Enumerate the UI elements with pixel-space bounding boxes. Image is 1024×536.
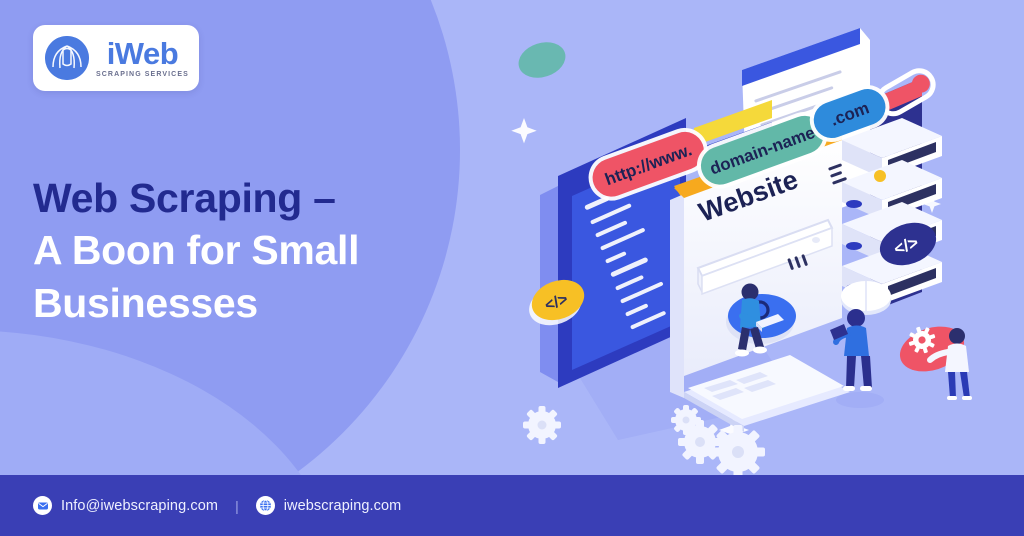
logo-subtitle: SCRAPING SERVICES — [96, 71, 189, 78]
server-rack — [842, 118, 942, 304]
page-title: Web Scraping – A Boon for Small Business… — [33, 172, 503, 329]
footer-separator: | — [235, 498, 239, 514]
headline-line-2: A Boon for Small — [33, 224, 503, 276]
footer-email[interactable]: Info@iwebscraping.com — [33, 496, 218, 515]
illustration: Website — [498, 0, 1024, 480]
logo[interactable]: iWeb SCRAPING SERVICES — [33, 25, 199, 91]
sparkle-icon — [511, 118, 536, 143]
spider-web-icon — [45, 36, 89, 80]
banner-root: Website — [0, 0, 1024, 536]
footer: Info@iwebscraping.com | iwebscraping.com — [0, 475, 1024, 536]
footer-email-text: Info@iwebscraping.com — [61, 498, 218, 514]
search-button — [726, 294, 796, 344]
logo-title: iWeb — [107, 38, 179, 69]
computer-mouse — [841, 281, 891, 315]
decorative-dot — [874, 170, 886, 182]
headline-line-1: Web Scraping – — [33, 172, 503, 224]
globe-icon — [256, 496, 275, 515]
decorative-blob — [514, 36, 570, 83]
headline-line-3: Businesses — [33, 277, 503, 329]
footer-website-text: iwebscraping.com — [284, 498, 402, 514]
footer-website[interactable]: iwebscraping.com — [256, 496, 402, 515]
envelope-icon — [33, 496, 52, 515]
